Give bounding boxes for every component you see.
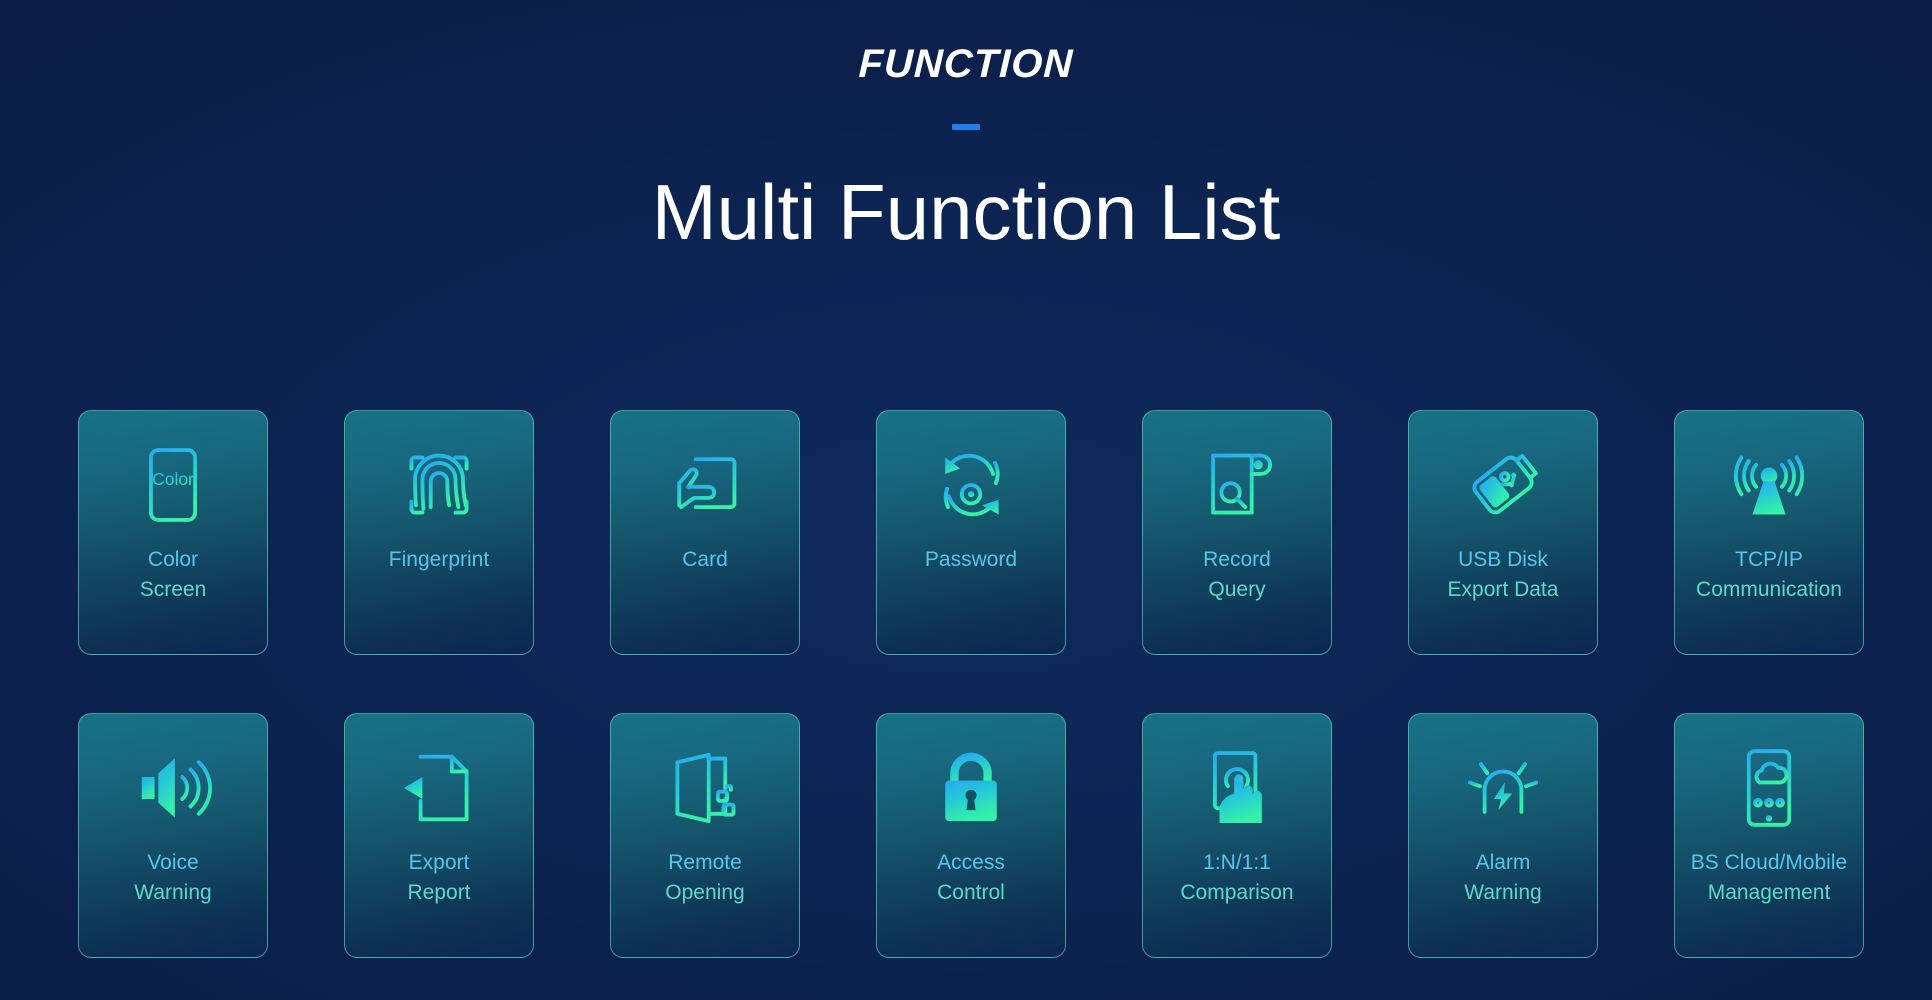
alarm-siren-icon [1457,742,1549,834]
record-query-icon [1191,439,1283,531]
function-list-page: FUNCTION Multi Function List Color Color… [0,0,1932,1000]
function-card-label: VoiceWarning [79,848,267,908]
function-card-label: Fingerprint [345,545,533,575]
function-card-label-line2: Communication [1679,575,1859,605]
function-card-label-line1: Fingerprint [349,545,529,575]
function-card[interactable]: USB DiskExport Data [1408,410,1598,655]
function-card-label-line2: Screen [83,575,263,605]
function-card[interactable]: Card [610,410,800,655]
function-card-label-line1: Card [615,545,795,575]
page-title: Multi Function List [0,170,1932,256]
function-card-label-line1: Access [881,848,1061,878]
function-card[interactable]: BS Cloud/MobileManagement [1674,713,1864,958]
function-card[interactable]: Password [876,410,1066,655]
function-card-label: Card [611,545,799,575]
function-card-label-line2: Export Data [1413,575,1593,605]
color-screen-icon: Color [127,439,219,531]
function-card-label-line1: Record [1147,545,1327,575]
function-card[interactable]: RemoteOpening [610,713,800,958]
function-card-label: 1:N/1:1Comparison [1143,848,1331,908]
function-card-label: RecordQuery [1143,545,1331,605]
function-card[interactable]: TCP/IPCommunication [1674,410,1864,655]
function-card-label-line1: Alarm [1413,848,1593,878]
title-underline-rule [952,124,980,130]
touch-screen-icon [1191,742,1283,834]
function-card-label: USB DiskExport Data [1409,545,1597,605]
function-card-label-line2: Management [1679,878,1859,908]
function-card[interactable]: Fingerprint [344,410,534,655]
function-card[interactable]: VoiceWarning [78,713,268,958]
function-card-label: Password [877,545,1065,575]
function-card-label: TCP/IPCommunication [1675,545,1863,605]
antenna-icon [1723,439,1815,531]
function-card-label: ColorScreen [79,545,267,605]
section-eyebrow: FUNCTION [0,44,1932,84]
function-card-label-line2: Comparison [1147,878,1327,908]
function-card-label-line2: Query [1147,575,1327,605]
function-card[interactable]: 1:N/1:1Comparison [1142,713,1332,958]
function-card-label: AccessControl [877,848,1065,908]
usb-disk-icon [1457,439,1549,531]
function-card[interactable]: Color ColorScreen [78,410,268,655]
function-card-label-line1: Color [83,545,263,575]
function-card-label-line1: 1:N/1:1 [1147,848,1327,878]
function-card-label-line2: Report [349,878,529,908]
function-card-label-line2: Warning [1413,878,1593,908]
function-card-label-line1: Export [349,848,529,878]
function-card[interactable]: AlarmWarning [1408,713,1598,958]
function-card-grid: Color ColorScreen Fingerprint Card [78,410,1868,958]
function-card-label-line2: Control [881,878,1061,908]
function-card-label-line1: Remote [615,848,795,878]
function-card[interactable]: RecordQuery [1142,410,1332,655]
card-hand-icon [659,439,751,531]
door-qr-icon [659,742,751,834]
function-card[interactable]: AccessControl [876,713,1066,958]
function-card-label-line2: Warning [83,878,263,908]
svg-text:Color: Color [152,469,194,489]
export-report-icon [393,742,485,834]
function-card-label: ExportReport [345,848,533,908]
password-key-icon [925,439,1017,531]
function-card-label-line2: Opening [615,878,795,908]
function-card-label-line1: BS Cloud/Mobile [1679,848,1859,878]
function-card-label: AlarmWarning [1409,848,1597,908]
fingerprint-icon [393,439,485,531]
function-card-label-line1: Password [881,545,1061,575]
function-card-label: BS Cloud/MobileManagement [1675,848,1863,908]
function-card-label-line1: TCP/IP [1679,545,1859,575]
function-card-label-line1: Voice [83,848,263,878]
cloud-phone-icon [1723,742,1815,834]
function-card-label-line1: USB Disk [1413,545,1593,575]
function-card-label: RemoteOpening [611,848,799,908]
function-card[interactable]: ExportReport [344,713,534,958]
speaker-icon [127,742,219,834]
padlock-icon [925,742,1017,834]
